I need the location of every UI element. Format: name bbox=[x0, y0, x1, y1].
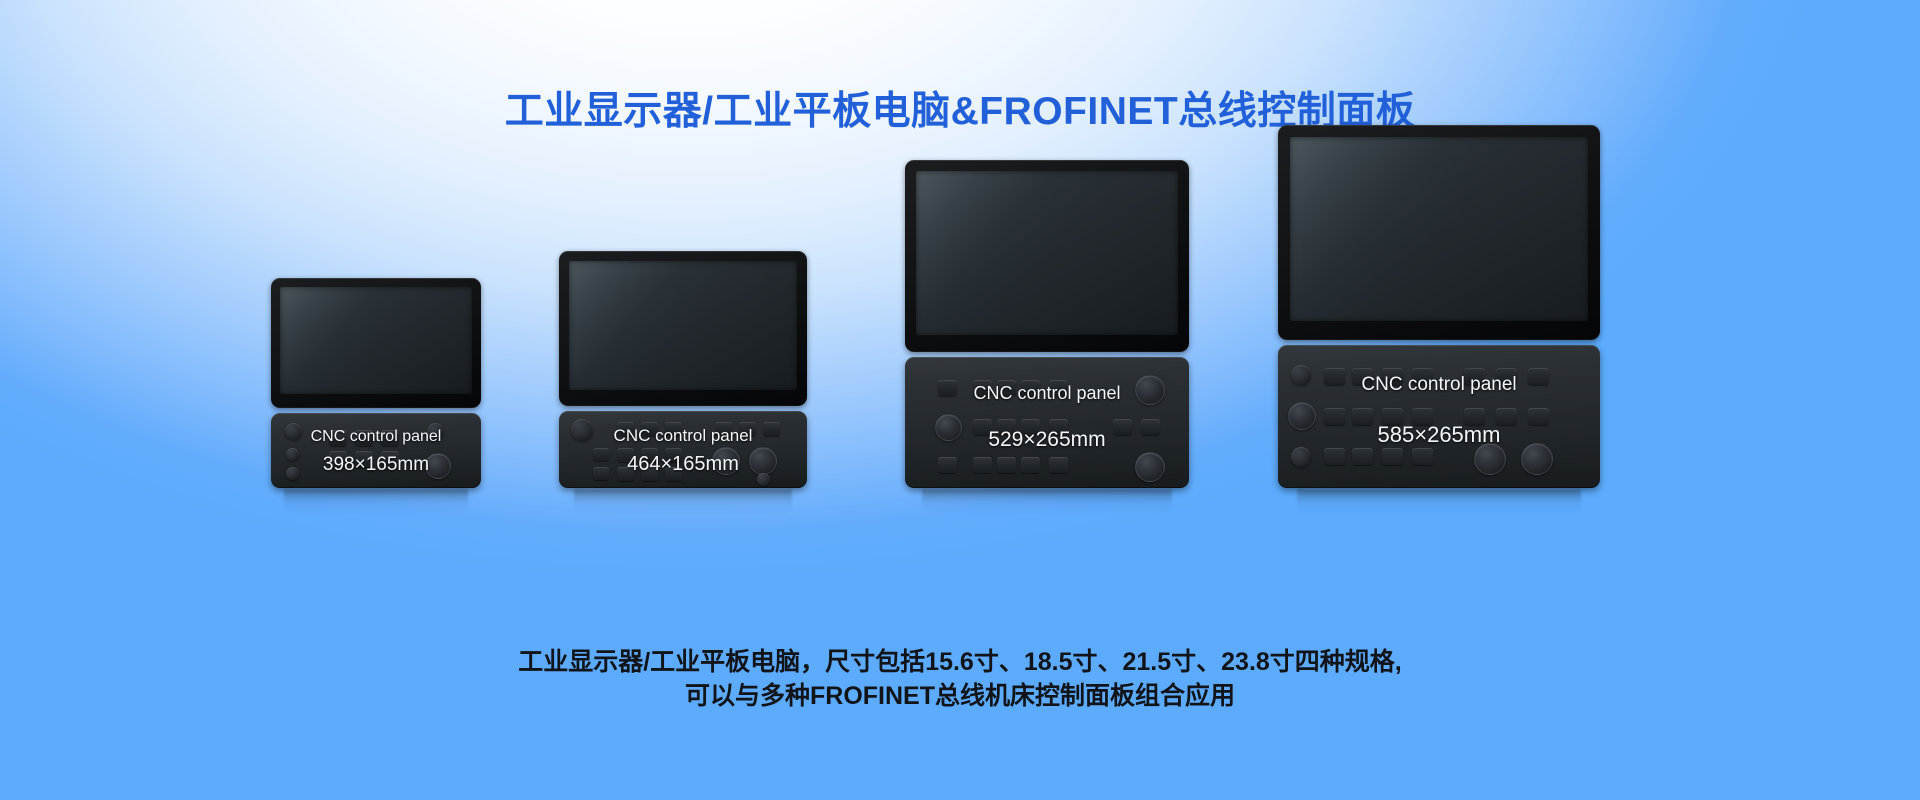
rotary-knob[interactable] bbox=[1135, 375, 1165, 405]
device-assembly: CNC control panel464×165mm bbox=[559, 251, 807, 488]
panel-key-button[interactable] bbox=[1049, 419, 1068, 435]
control-cluster bbox=[559, 411, 807, 488]
panel-key-button[interactable] bbox=[381, 451, 399, 467]
control-cluster bbox=[1278, 345, 1600, 488]
panel-key-button[interactable] bbox=[381, 430, 399, 446]
cnc-control-panel-base[interactable]: CNC control panel398×165mm bbox=[271, 413, 481, 488]
panel-key-button[interactable] bbox=[973, 457, 992, 473]
panel-key-button[interactable] bbox=[665, 448, 682, 462]
panel-key-button[interactable] bbox=[973, 380, 992, 396]
panel-key-button[interactable] bbox=[1412, 448, 1433, 465]
panel-key-button[interactable] bbox=[1021, 380, 1040, 396]
device-reflection bbox=[574, 489, 792, 515]
monitor-screen bbox=[1290, 137, 1588, 321]
device-reflection bbox=[922, 489, 1172, 515]
control-cluster bbox=[905, 357, 1189, 488]
panel-key-button[interactable] bbox=[1021, 457, 1040, 473]
industrial-monitor[interactable] bbox=[559, 251, 807, 406]
panel-key-button[interactable] bbox=[617, 448, 634, 462]
round-button[interactable] bbox=[427, 423, 444, 440]
product-lineup: CNC control panel398×165mmCNC control pa… bbox=[0, 0, 1920, 640]
panel-key-button[interactable] bbox=[739, 422, 756, 436]
round-button[interactable] bbox=[1291, 447, 1311, 467]
caption-line-1: 工业显示器/工业平板电脑，尺寸包括15.6寸、18.5寸、21.5寸、23.8寸… bbox=[0, 645, 1920, 679]
round-button[interactable] bbox=[285, 423, 302, 440]
panel-key-button[interactable] bbox=[1352, 408, 1373, 425]
panel-key-button[interactable] bbox=[1528, 368, 1549, 385]
panel-key-button[interactable] bbox=[1352, 448, 1373, 465]
round-button[interactable] bbox=[757, 473, 770, 486]
industrial-monitor[interactable] bbox=[271, 278, 481, 408]
panel-key-button[interactable] bbox=[593, 448, 609, 461]
panel-key-button[interactable] bbox=[329, 430, 347, 446]
panel-key-button[interactable] bbox=[329, 451, 347, 467]
panel-key-button[interactable] bbox=[641, 448, 658, 462]
panel-key-button[interactable] bbox=[1324, 368, 1345, 385]
device-reflection bbox=[1297, 489, 1580, 515]
panel-key-button[interactable] bbox=[938, 457, 957, 473]
panel-key-button[interactable] bbox=[1021, 419, 1040, 435]
rotary-knob[interactable] bbox=[1135, 452, 1165, 482]
panel-key-button[interactable] bbox=[665, 422, 682, 436]
industrial-monitor[interactable] bbox=[1278, 125, 1600, 340]
rotary-knob[interactable] bbox=[425, 453, 451, 479]
round-button[interactable] bbox=[286, 448, 299, 461]
caption-block: 工业显示器/工业平板电脑，尺寸包括15.6寸、18.5寸、21.5寸、23.8寸… bbox=[0, 645, 1920, 713]
panel-key-button[interactable] bbox=[1113, 419, 1132, 435]
round-button[interactable] bbox=[286, 467, 299, 480]
device-assembly: CNC control panel529×265mm bbox=[905, 160, 1189, 488]
rotary-knob[interactable] bbox=[712, 447, 740, 475]
panel-key-button[interactable] bbox=[355, 430, 373, 446]
device-assembly: CNC control panel585×265mm bbox=[1278, 125, 1600, 488]
panel-key-button[interactable] bbox=[1352, 368, 1373, 385]
panel-key-button[interactable] bbox=[1412, 368, 1433, 385]
device-assembly: CNC control panel398×165mm bbox=[271, 278, 481, 488]
rotary-knob[interactable] bbox=[749, 447, 777, 475]
device-reflection bbox=[284, 489, 469, 515]
panel-key-button[interactable] bbox=[1324, 448, 1345, 465]
product-panel-585[interactable]: CNC control panel585×265mm bbox=[1278, 125, 1600, 488]
control-cluster bbox=[271, 413, 481, 488]
cnc-control-panel-base[interactable]: CNC control panel529×265mm bbox=[905, 357, 1189, 488]
panel-key-button[interactable] bbox=[997, 457, 1016, 473]
panel-key-button[interactable] bbox=[1412, 408, 1433, 425]
rotary-knob[interactable] bbox=[935, 414, 962, 441]
panel-key-button[interactable] bbox=[1496, 368, 1517, 385]
round-button[interactable] bbox=[1291, 365, 1311, 385]
monitor-screen bbox=[916, 171, 1178, 335]
promo-banner: 工业显示器/工业平板电脑&FROFINET总线控制面板 CNC control … bbox=[0, 0, 1920, 800]
rotary-knob[interactable] bbox=[1474, 443, 1506, 475]
product-panel-464[interactable]: CNC control panel464×165mm bbox=[559, 251, 807, 488]
industrial-monitor[interactable] bbox=[905, 160, 1189, 352]
panel-key-button[interactable] bbox=[593, 467, 609, 480]
monitor-screen bbox=[569, 261, 797, 390]
panel-key-button[interactable] bbox=[1464, 368, 1485, 385]
panel-key-button[interactable] bbox=[1496, 408, 1517, 425]
panel-key-button[interactable] bbox=[715, 422, 732, 436]
panel-key-button[interactable] bbox=[617, 467, 634, 481]
panel-key-button[interactable] bbox=[997, 419, 1016, 435]
panel-key-button[interactable] bbox=[617, 422, 634, 436]
panel-key-button[interactable] bbox=[938, 380, 957, 396]
panel-key-button[interactable] bbox=[355, 451, 373, 467]
round-button[interactable] bbox=[571, 419, 593, 441]
monitor-screen bbox=[280, 287, 472, 394]
caption-line-2: 可以与多种FROFINET总线机床控制面板组合应用 bbox=[0, 679, 1920, 713]
panel-key-button[interactable] bbox=[1464, 408, 1485, 425]
cnc-control-panel-base[interactable]: CNC control panel464×165mm bbox=[559, 411, 807, 488]
product-panel-529[interactable]: CNC control panel529×265mm bbox=[905, 160, 1189, 488]
panel-key-button[interactable] bbox=[1382, 368, 1403, 385]
product-panel-398[interactable]: CNC control panel398×165mm bbox=[271, 278, 481, 488]
panel-key-button[interactable] bbox=[973, 419, 992, 435]
panel-key-button[interactable] bbox=[1324, 408, 1345, 425]
panel-key-button[interactable] bbox=[1382, 408, 1403, 425]
panel-key-button[interactable] bbox=[1528, 408, 1549, 425]
cnc-control-panel-base[interactable]: CNC control panel585×265mm bbox=[1278, 345, 1600, 488]
panel-key-button[interactable] bbox=[997, 380, 1016, 396]
panel-key-button[interactable] bbox=[665, 467, 682, 481]
panel-key-button[interactable] bbox=[641, 467, 658, 481]
panel-key-button[interactable] bbox=[763, 422, 780, 436]
panel-key-button[interactable] bbox=[1141, 419, 1160, 435]
rotary-knob[interactable] bbox=[1521, 443, 1553, 475]
panel-key-button[interactable] bbox=[641, 422, 658, 436]
rotary-knob[interactable] bbox=[1288, 402, 1316, 430]
panel-key-button[interactable] bbox=[1049, 457, 1068, 473]
panel-key-button[interactable] bbox=[1049, 380, 1068, 396]
panel-key-button[interactable] bbox=[1382, 448, 1403, 465]
